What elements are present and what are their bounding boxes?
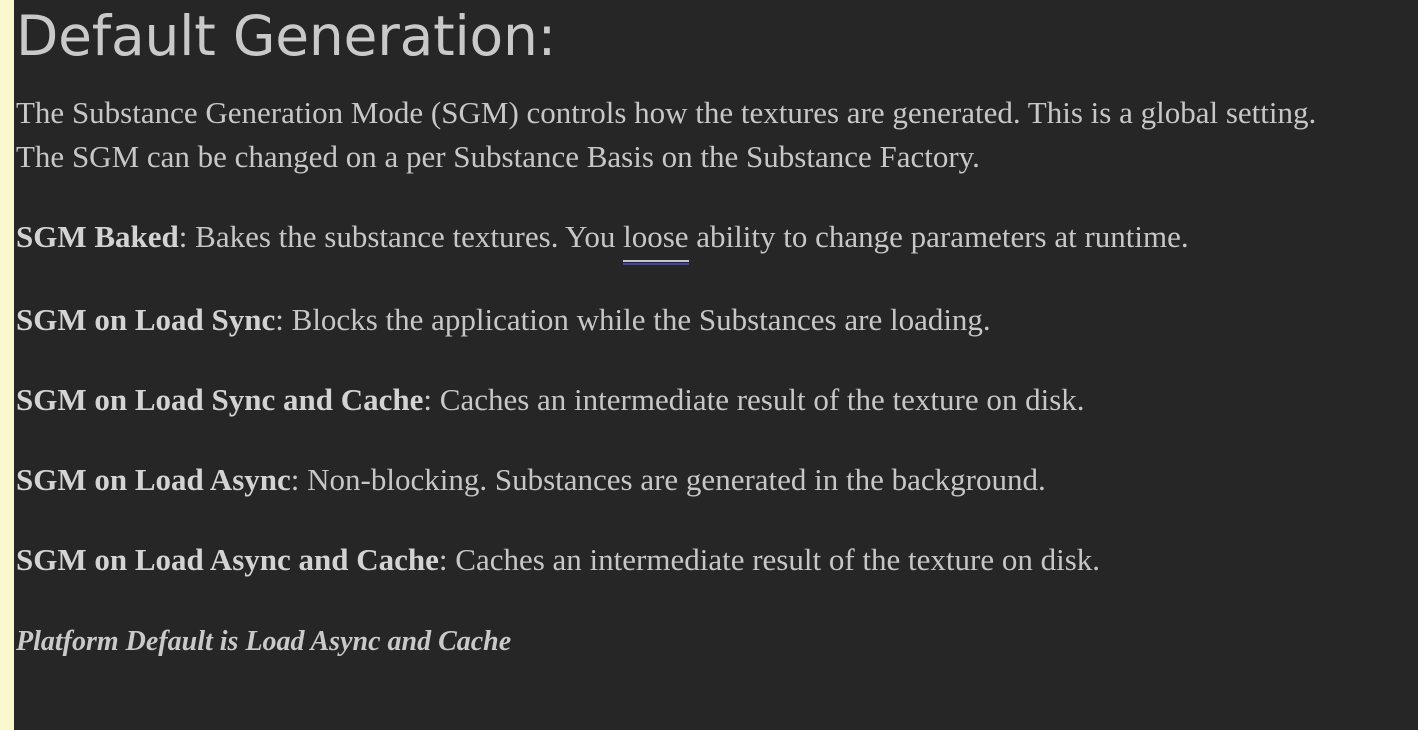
intro-line-1: The Substance Generation Mode (SGM) cont… bbox=[16, 91, 1418, 135]
sgm-item-desc: Non-blocking. Substances are generated i… bbox=[307, 462, 1046, 497]
sgm-item-label: SGM Baked bbox=[16, 219, 179, 254]
sgm-item-desc-after-link: ability to change parameters at runtime. bbox=[689, 219, 1189, 254]
left-accent-strip bbox=[0, 0, 14, 730]
sgm-item-load-async: SGM on Load Async: Non-blocking. Substan… bbox=[16, 458, 1418, 502]
page-title: Default Generation: bbox=[16, 0, 1418, 65]
sgm-item-load-sync: SGM on Load Sync: Blocks the application… bbox=[16, 298, 1418, 342]
sgm-item-desc: Caches an intermediate result of the tex… bbox=[455, 542, 1100, 577]
intro-paragraph: The Substance Generation Mode (SGM) cont… bbox=[16, 91, 1418, 179]
sgm-item-desc: Caches an intermediate result of the tex… bbox=[440, 382, 1085, 417]
loose-link[interactable]: loose bbox=[623, 215, 688, 262]
sgm-item-separator: : bbox=[291, 462, 307, 497]
sgm-item-label: SGM on Load Sync bbox=[16, 302, 275, 337]
sgm-item-load-async-and-cache: SGM on Load Async and Cache: Caches an i… bbox=[16, 538, 1418, 582]
sgm-item-separator: : bbox=[275, 302, 291, 337]
sgm-item-label: SGM on Load Async and Cache bbox=[16, 542, 439, 577]
sgm-item-label: SGM on Load Async bbox=[16, 462, 291, 497]
sgm-item-desc: Blocks the application while the Substan… bbox=[292, 302, 991, 337]
platform-default-note: Platform Default is Load Async and Cache bbox=[16, 622, 1418, 662]
document-content: Default Generation: The Substance Genera… bbox=[14, 0, 1418, 730]
sgm-item-separator: : bbox=[423, 382, 439, 417]
sgm-item-separator: : bbox=[179, 219, 195, 254]
sgm-item-label: SGM on Load Sync and Cache bbox=[16, 382, 423, 417]
sgm-item-load-sync-and-cache: SGM on Load Sync and Cache: Caches an in… bbox=[16, 378, 1418, 422]
sgm-item-separator: : bbox=[439, 542, 455, 577]
sgm-item-baked: SGM Baked: Bakes the substance textures.… bbox=[16, 215, 1418, 262]
documentation-page: Default Generation: The Substance Genera… bbox=[0, 0, 1418, 730]
intro-line-2: The SGM can be changed on a per Substanc… bbox=[16, 135, 1418, 179]
sgm-item-desc-before-link: Bakes the substance textures. You bbox=[195, 219, 623, 254]
